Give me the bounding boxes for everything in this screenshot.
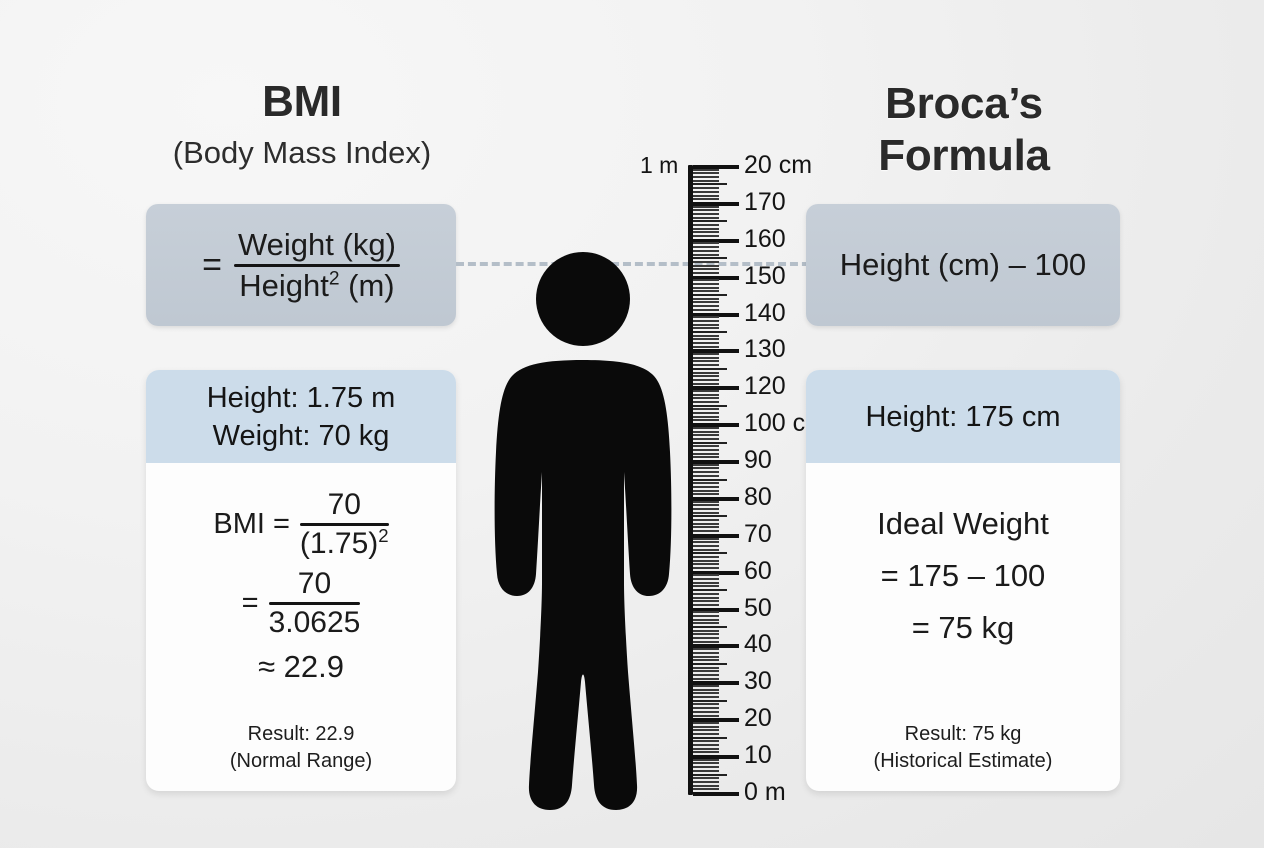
ruler-minor-tick: [693, 375, 719, 377]
ruler-tick-label: 20: [744, 706, 772, 731]
ruler-minor-tick: [693, 788, 719, 790]
ruler-minor-tick: [693, 394, 719, 396]
ruler-minor-tick: [693, 508, 719, 510]
ruler-tick-label: 170: [744, 190, 786, 215]
ruler-minor-tick: [693, 726, 719, 728]
ruler-minor-tick: [693, 172, 719, 174]
ruler-minor-tick: [693, 416, 719, 418]
ruler-minor-tick: [693, 659, 719, 661]
ruler-minor-tick: [693, 338, 719, 340]
ruler-minor-tick: [693, 689, 719, 691]
ruler-minor-tick: [693, 630, 719, 632]
human-pictogram: [468, 252, 698, 812]
bmi-input-weight: Weight: 70 kg: [146, 417, 456, 455]
ruler-minor-tick: [693, 368, 727, 370]
ruler-minor-tick: [693, 357, 719, 359]
ruler-minor-tick: [693, 294, 727, 296]
ruler-minor-tick: [693, 667, 719, 669]
bmi-calc-label: BMI =: [213, 508, 290, 541]
bmi-calc-step1-denominator: (1.75)2: [300, 526, 389, 562]
ruler-minor-tick: [693, 419, 719, 421]
ruler-minor-tick: [693, 637, 719, 639]
ruler-minor-tick: [693, 434, 719, 436]
bmi-formula-box: = Weight (kg) Height2 (m): [146, 204, 456, 326]
ruler-minor-tick: [693, 762, 719, 764]
bmi-calc-step-1: BMI = 70 (1.75)2: [213, 487, 388, 562]
ruler-minor-tick: [693, 246, 719, 248]
ruler-tick-label: 150: [744, 264, 786, 289]
broca-result-value: Result: 75 kg: [806, 721, 1120, 748]
ruler-minor-tick: [693, 567, 719, 569]
ruler-minor-tick: [693, 545, 719, 547]
ruler-minor-tick: [693, 442, 727, 444]
broca-title-line-2: Formula: [806, 130, 1122, 182]
ruler-minor-tick: [693, 176, 719, 178]
ruler-minor-tick: [693, 633, 719, 635]
ruler-minor-tick: [693, 604, 719, 606]
figure-body: [495, 360, 672, 810]
ruler-minor-tick: [693, 335, 719, 337]
broca-formula-expression: Height (cm) – 100: [840, 247, 1086, 283]
ruler-minor-tick: [693, 626, 727, 628]
ruler-minor-tick: [693, 781, 719, 783]
ruler-minor-tick: [693, 663, 727, 665]
ruler-tick-label: 70: [744, 522, 772, 547]
broca-calc-line-1: Ideal Weight: [877, 507, 1049, 541]
ruler-minor-tick: [693, 729, 719, 731]
ruler-minor-tick: [693, 453, 719, 455]
ruler-minor-tick: [693, 582, 719, 584]
ruler-minor-tick: [693, 670, 719, 672]
ruler-minor-tick: [693, 217, 719, 219]
ruler-tick-label: 50: [744, 596, 772, 621]
ruler-minor-tick: [693, 656, 719, 658]
ruler-tick-label: 120: [744, 374, 786, 399]
ruler-minor-tick: [693, 213, 719, 215]
ruler-tick-label: 140: [744, 301, 786, 326]
ruler-minor-tick: [693, 298, 719, 300]
broca-card-body: Ideal Weight = 175 – 100 = 75 kg Result:…: [806, 463, 1120, 791]
ruler-minor-tick: [693, 169, 719, 171]
ruler-minor-tick: [693, 324, 719, 326]
ruler-minor-tick: [693, 449, 719, 451]
ruler-minor-tick: [693, 364, 719, 366]
bmi-calc-step-3: ≈ 22.9: [258, 649, 344, 685]
ruler-minor-tick: [693, 560, 719, 562]
ruler-minor-tick: [693, 585, 719, 587]
ruler-minor-tick: [693, 722, 719, 724]
bmi-result-card: Height: 1.75 m Weight: 70 kg BMI = 70 (1…: [146, 370, 456, 791]
height-ruler: 1 m 20 cm170160150140130120100 cm9080706…: [688, 160, 808, 800]
ruler-minor-tick: [693, 183, 727, 185]
broca-calc-line-3: = 75 kg: [912, 611, 1015, 645]
ruler-minor-tick: [693, 678, 719, 680]
figure-head: [536, 252, 630, 346]
bmi-calc-step1-denominator-exponent: 2: [378, 525, 388, 546]
ruler-minor-tick: [693, 685, 719, 687]
bmi-formula-denominator-base: Height: [239, 268, 329, 303]
bmi-calc-step1-denominator-base: (1.75): [300, 527, 378, 560]
ruler-minor-tick: [693, 744, 719, 746]
ruler-minor-tick: [693, 346, 719, 348]
ruler-minor-tick: [693, 493, 719, 495]
ruler-minor-tick: [693, 228, 719, 230]
bmi-calculation: BMI = 70 (1.75)2 = 70 3.0625 ≈ 22.9: [213, 487, 388, 685]
ruler-minor-tick: [693, 737, 727, 739]
ruler-minor-tick: [693, 250, 719, 252]
ruler-minor-tick: [693, 331, 727, 333]
ruler-minor-tick: [693, 703, 719, 705]
ruler-minor-tick: [693, 206, 719, 208]
ruler-minor-tick: [693, 290, 719, 292]
ruler-minor-tick: [693, 641, 719, 643]
ruler-minor-tick: [693, 390, 719, 392]
ruler-minor-tick: [693, 401, 719, 403]
ruler-minor-tick: [693, 327, 719, 329]
bmi-formula-denominator-exponent: 2: [329, 268, 340, 289]
ruler-minor-tick: [693, 342, 719, 344]
ruler-minor-tick: [693, 372, 719, 374]
ruler-minor-tick: [693, 427, 719, 429]
ruler-minor-tick: [693, 711, 719, 713]
ruler-minor-tick: [693, 301, 719, 303]
ruler-minor-tick: [693, 320, 719, 322]
bmi-formula-fraction: Weight (kg) Height2 (m): [234, 226, 400, 305]
ruler-minor-tick: [693, 715, 719, 717]
bmi-result-value: Result: 22.9: [146, 721, 456, 748]
broca-input-height: Height: 175 cm: [806, 398, 1120, 436]
bmi-result-category: (Normal Range): [146, 748, 456, 775]
ruler-minor-tick: [693, 611, 719, 613]
ruler-minor-tick: [693, 383, 719, 385]
ruler-minor-tick: [693, 490, 719, 492]
ruler-minor-tick: [693, 549, 719, 551]
ruler-minor-tick: [693, 692, 719, 694]
ruler-minor-tick: [693, 578, 719, 580]
ruler-minor-tick: [693, 180, 719, 182]
ruler-tick-label: 60: [744, 559, 772, 584]
broca-calculation: Ideal Weight = 175 – 100 = 75 kg: [877, 507, 1049, 645]
ruler-minor-tick: [693, 272, 719, 274]
bmi-calc-step2-fraction: 70 3.0625: [269, 566, 361, 641]
bmi-card-body: BMI = 70 (1.75)2 = 70 3.0625 ≈ 22.9: [146, 463, 456, 791]
ruler-minor-tick: [693, 501, 719, 503]
bmi-calc-step-2: = 70 3.0625: [242, 566, 361, 641]
ruler-minor-tick: [693, 593, 719, 595]
ruler-minor-tick: [693, 512, 719, 514]
ruler-minor-tick: [693, 622, 719, 624]
ruler-minor-tick: [693, 563, 719, 565]
ruler-tick-label: 90: [744, 448, 772, 473]
ruler-minor-tick: [693, 774, 727, 776]
ruler-minor-tick: [693, 700, 727, 702]
ruler-minor-tick: [693, 504, 719, 506]
bmi-formula-denominator: Height2 (m): [235, 267, 398, 305]
ruler-minor-tick: [693, 515, 727, 517]
ruler-minor-tick: [693, 751, 719, 753]
ruler-minor-tick: [693, 552, 727, 554]
broca-calc-line-2: = 175 – 100: [881, 559, 1046, 593]
ruler-minor-tick: [693, 287, 719, 289]
ruler-tick-label: 20 cm: [744, 153, 812, 178]
ruler-minor-tick: [693, 759, 719, 761]
ruler-minor-tick: [693, 279, 719, 281]
ruler-minor-tick: [693, 209, 719, 211]
ruler-minor-tick: [693, 464, 719, 466]
ruler-minor-tick: [693, 770, 719, 772]
bmi-input-height: Height: 1.75 m: [146, 379, 456, 417]
bmi-subtitle: (Body Mass Index): [126, 135, 478, 171]
ruler-minor-tick: [693, 397, 719, 399]
ruler-minor-tick: [693, 648, 719, 650]
ruler-minor-tick: [693, 405, 727, 407]
bmi-calc-step2-numerator: 70: [298, 566, 331, 602]
ruler-minor-tick: [693, 467, 719, 469]
ruler-minor-tick: [693, 257, 727, 259]
ruler-minor-tick: [693, 785, 719, 787]
ruler-minor-tick: [693, 519, 719, 521]
ruler-minor-tick: [693, 360, 719, 362]
bmi-card-header: Height: 1.75 m Weight: 70 kg: [146, 370, 456, 463]
ruler-minor-tick: [693, 615, 719, 617]
ruler-minor-tick: [693, 265, 719, 267]
ruler-minor-tick: [693, 541, 719, 543]
broca-card-header: Height: 175 cm: [806, 370, 1120, 463]
ruler-minor-tick: [693, 740, 719, 742]
infographic-canvas: BMI (Body Mass Index) = Weight (kg) Heig…: [0, 0, 1264, 848]
ruler-minor-tick: [693, 707, 719, 709]
ruler-minor-tick: [693, 187, 719, 189]
ruler-minor-tick: [693, 777, 719, 779]
ruler-minor-tick: [693, 597, 719, 599]
ruler-minor-tick: [693, 224, 719, 226]
ruler-minor-tick: [693, 220, 727, 222]
ruler-minor-tick: [693, 431, 719, 433]
ruler-minor-tick: [693, 231, 719, 233]
ruler-tick-label: 0 m: [744, 780, 786, 805]
ruler-minor-tick: [693, 408, 719, 410]
ruler-minor-tick: [693, 766, 719, 768]
ruler-minor-tick: [693, 556, 719, 558]
ruler-minor-tick: [693, 696, 719, 698]
bmi-formula-equals: =: [202, 248, 222, 282]
bmi-card-footer: Result: 22.9 (Normal Range): [146, 721, 456, 775]
ruler-minor-tick: [693, 589, 727, 591]
bmi-calc-step1-numerator: 70: [328, 487, 361, 523]
ruler-tick-label: 10: [744, 743, 772, 768]
ruler-minor-tick: [693, 619, 719, 621]
ruler-minor-tick: [693, 305, 719, 307]
ruler-minor-tick: [693, 471, 719, 473]
ruler-minor-tick: [693, 283, 719, 285]
ruler-tick-label: 160: [744, 227, 786, 252]
ruler-minor-tick: [693, 316, 719, 318]
ruler-minor-tick: [693, 445, 719, 447]
ruler-tick-label: 130: [744, 337, 786, 362]
broca-result-card: Height: 175 cm Ideal Weight = 175 – 100 …: [806, 370, 1120, 791]
broca-result-note: (Historical Estimate): [806, 748, 1120, 775]
ruler-minor-tick: [693, 748, 719, 750]
ruler-minor-tick: [693, 195, 719, 197]
ruler-minor-tick: [693, 674, 719, 676]
ruler-minor-tick: [693, 574, 719, 576]
ruler-minor-tick: [693, 456, 719, 458]
ruler-minor-tick: [693, 191, 719, 193]
ruler-minor-tick: [693, 198, 719, 200]
ruler-minor-tick: [693, 309, 719, 311]
ruler-minor-tick: [693, 242, 719, 244]
broca-title: Broca’s Formula: [806, 78, 1122, 182]
ruler-minor-tick: [693, 652, 719, 654]
bmi-calc-step1-fraction: 70 (1.75)2: [300, 487, 389, 562]
bmi-formula-numerator: Weight (kg): [234, 226, 400, 264]
broca-formula-box: Height (cm) – 100: [806, 204, 1120, 326]
ruler-minor-tick: [693, 538, 719, 540]
ruler-minor-tick: [693, 353, 719, 355]
bmi-formula-expression: = Weight (kg) Height2 (m): [202, 226, 400, 305]
ruler-minor-tick: [693, 254, 719, 256]
bmi-calc-step2-equals: =: [242, 587, 259, 620]
ruler-major-tick: [693, 792, 739, 796]
broca-title-line-1: Broca’s: [806, 78, 1122, 130]
ruler-minor-tick: [693, 235, 719, 237]
bmi-calc-step2-denominator: 3.0625: [269, 605, 361, 641]
ruler-minor-tick: [693, 530, 719, 532]
ruler-minor-tick: [693, 268, 719, 270]
ruler-minor-tick: [693, 600, 719, 602]
ruler-minor-tick: [693, 523, 719, 525]
ruler-minor-tick: [693, 482, 719, 484]
bmi-title: BMI: [146, 78, 458, 126]
ruler-minor-tick: [693, 733, 719, 735]
ruler-top-left-label: 1 m: [640, 152, 678, 179]
ruler-minor-tick: [693, 412, 719, 414]
bmi-formula-denominator-unit: (m): [340, 268, 395, 303]
ruler-minor-tick: [693, 475, 719, 477]
ruler-minor-tick: [693, 261, 719, 263]
ruler-minor-tick: [693, 526, 719, 528]
ruler-tick-label: 30: [744, 669, 772, 694]
ruler-tick-label: 40: [744, 632, 772, 657]
broca-card-footer: Result: 75 kg (Historical Estimate): [806, 721, 1120, 775]
ruler-minor-tick: [693, 438, 719, 440]
ruler-minor-tick: [693, 379, 719, 381]
ruler-tick-label: 80: [744, 485, 772, 510]
ruler-minor-tick: [693, 486, 719, 488]
ruler-minor-tick: [693, 479, 727, 481]
